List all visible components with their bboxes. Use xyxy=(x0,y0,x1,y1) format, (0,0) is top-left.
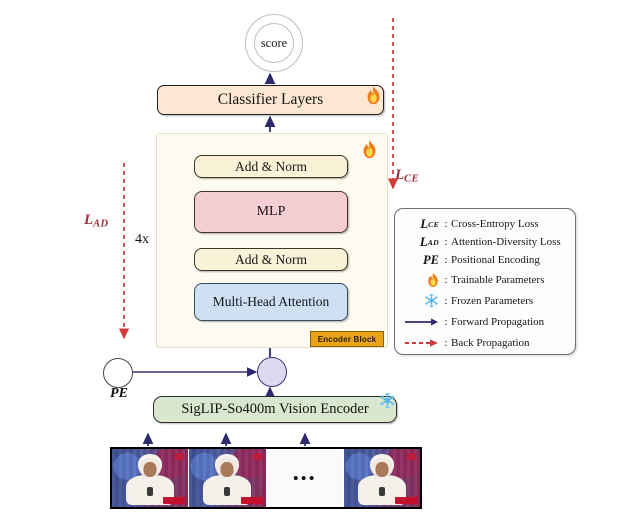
legend-colon: : xyxy=(442,254,450,266)
anchor-tie xyxy=(147,487,153,496)
legend-text: Back Propagation xyxy=(450,337,568,349)
mlp-label: MLP xyxy=(257,204,286,220)
vision-encoder-label: SigLIP-So400m Vision Encoder xyxy=(181,401,368,418)
legend-math-symbol: PE xyxy=(423,253,439,268)
multi-head-attention-box[interactable]: Multi-Head Attention xyxy=(194,283,348,321)
broadcast-banner xyxy=(241,497,263,504)
legend-panel: LCE : Cross-Entropy Loss LAD : Attention… xyxy=(394,208,576,355)
legend-row: LAD : Attention-Diversity Loss xyxy=(403,233,568,251)
anchor-face xyxy=(221,462,234,477)
legend-row: PE : Positional Encoding xyxy=(403,251,568,269)
loss-symbol: L xyxy=(395,167,404,183)
multi-head-attention-label: Multi-Head Attention xyxy=(213,294,330,310)
positional-encoding-node xyxy=(103,358,133,388)
legend-text: Frozen Parameters xyxy=(450,295,568,307)
add-and-norm-top-label: Add & Norm xyxy=(235,159,307,175)
anchor-face xyxy=(144,462,157,477)
channel-logo-icon xyxy=(407,453,416,460)
positional-encoding-label: PE xyxy=(101,386,137,402)
anchor-tie xyxy=(224,487,230,496)
legend-text: Cross-Entropy Loss xyxy=(450,218,568,230)
legend-symbol: PE xyxy=(403,253,442,268)
video-frame xyxy=(344,449,420,507)
vision-encoder-box[interactable]: SigLIP-So400m Vision Encoder xyxy=(153,396,397,423)
broadcast-banner xyxy=(163,497,185,504)
legend-text: Attention-Diversity Loss xyxy=(450,236,568,248)
video-frame xyxy=(189,449,266,507)
anchor-tie xyxy=(379,487,385,496)
broadcast-banner xyxy=(395,497,417,504)
snowflake-icon xyxy=(403,293,442,308)
encoder-block-tag: Encoder Block xyxy=(310,331,384,347)
add-and-norm-bottom-box[interactable]: Add & Norm xyxy=(194,248,348,271)
channel-logo-icon xyxy=(175,453,184,460)
legend-row: : Forward Propagation xyxy=(403,311,568,332)
mlp-box[interactable]: MLP xyxy=(194,191,348,233)
ellipsis-label: ••• xyxy=(293,470,317,487)
snowflake-icon xyxy=(379,392,396,411)
legend-text: Positional Encoding xyxy=(450,254,568,266)
legend-symbol: LAD xyxy=(403,234,442,250)
legend-math-symbol: L xyxy=(420,216,428,232)
back-arrow-icon xyxy=(403,338,442,348)
legend-colon: : xyxy=(442,274,450,286)
legend-symbol: LCE xyxy=(403,216,442,232)
legend-row: : Frozen Parameters xyxy=(403,290,568,311)
legend-math-subscript: CE xyxy=(428,220,439,229)
legend-row: LCE : Cross-Entropy Loss xyxy=(403,215,568,233)
legend-text: Forward Propagation xyxy=(450,316,568,328)
video-frame-strip: ••• xyxy=(110,447,422,509)
cross-entropy-loss-label: LCE xyxy=(395,167,419,184)
classifier-layers-box[interactable]: Classifier Layers xyxy=(157,85,384,115)
legend-row: : Trainable Parameters xyxy=(403,269,568,290)
video-frame xyxy=(112,449,189,507)
legend-colon: : xyxy=(442,295,450,307)
anchor-face xyxy=(375,462,388,477)
legend-colon: : xyxy=(442,218,450,230)
add-and-norm-bottom-label: Add & Norm xyxy=(235,252,307,268)
legend-text: Trainable Parameters xyxy=(450,274,568,286)
legend-row: : Back Propagation xyxy=(403,332,568,353)
score-node: score xyxy=(254,23,294,63)
channel-logo-icon xyxy=(253,453,262,460)
legend-colon: : xyxy=(442,337,450,349)
flame-icon xyxy=(362,140,377,161)
flame-icon xyxy=(366,86,381,107)
ellipsis-frame: ••• xyxy=(267,449,344,507)
flame-icon xyxy=(403,272,442,288)
loss-subscript: CE xyxy=(404,173,419,184)
addition-node xyxy=(257,357,287,387)
loss-subscript: AD xyxy=(93,218,108,229)
legend-colon: : xyxy=(442,316,450,328)
add-and-norm-top-box[interactable]: Add & Norm xyxy=(194,155,348,178)
legend-math-symbol: L xyxy=(420,234,428,250)
classifier-layers-label: Classifier Layers xyxy=(218,91,323,109)
attention-diversity-loss-label: LAD xyxy=(84,212,108,229)
forward-arrow-icon xyxy=(403,317,442,327)
loss-symbol: L xyxy=(84,212,93,228)
legend-math-subscript: AD xyxy=(428,238,439,247)
legend-colon: : xyxy=(442,236,450,248)
encoder-repeat-label: 4x xyxy=(135,232,149,248)
architecture-diagram: score Classifier Layers Add & Norm MLP A… xyxy=(0,0,620,522)
